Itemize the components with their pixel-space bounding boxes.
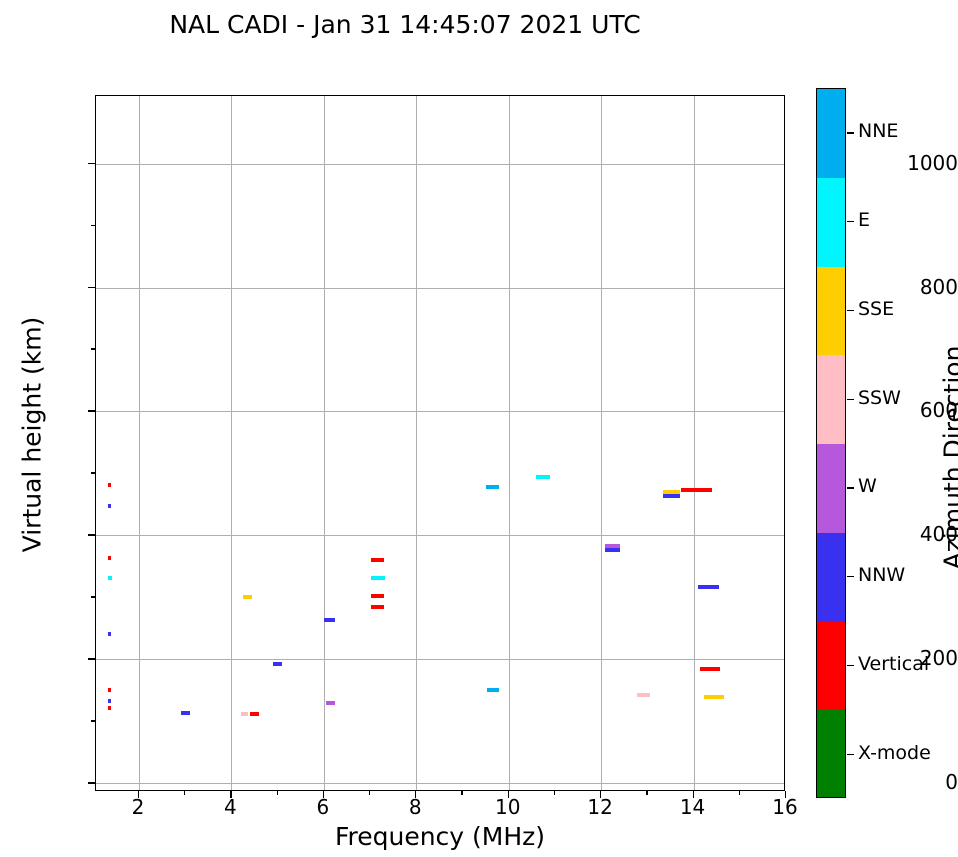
y-tick-mark — [88, 410, 95, 411]
colorbar-label-x-mode: X-mode — [858, 744, 931, 763]
data-point — [108, 483, 111, 487]
gridline-horizontal — [96, 659, 784, 660]
colorbar-tick — [847, 221, 854, 222]
ionogram-figure: NAL CADI - Jan 31 14:45:07 2021 UTC 0200… — [0, 0, 958, 857]
colorbar-tick — [847, 310, 854, 311]
x-tick-label: 6 — [293, 795, 353, 819]
colorbar-label-e: E — [858, 211, 870, 230]
colorbar-label-nne: NNE — [858, 122, 898, 141]
y-tick-minor — [91, 596, 95, 597]
gridline-vertical — [601, 96, 602, 790]
gridline-vertical — [231, 96, 232, 790]
y-tick-mark — [88, 287, 95, 288]
x-tick-label: 2 — [108, 795, 168, 819]
y-tick-label: 0 — [880, 772, 958, 792]
colorbar-tick — [847, 754, 854, 755]
colorbar-tick — [847, 132, 854, 133]
colorbar-tick — [847, 399, 854, 400]
x-tick-label: 12 — [570, 795, 630, 819]
colorbar-segment-x-mode — [817, 710, 845, 798]
gridline-horizontal — [96, 535, 784, 536]
y-tick-mark — [88, 163, 95, 164]
gridline-vertical — [416, 96, 417, 790]
data-point — [108, 699, 111, 703]
x-tick-label: 16 — [755, 795, 815, 819]
data-point — [698, 585, 719, 589]
colorbar-segment-nne — [817, 89, 845, 178]
y-tick-label: 1000 — [880, 153, 958, 173]
x-tick-label: 4 — [200, 795, 260, 819]
gridline-horizontal — [96, 411, 784, 412]
colorbar-title: Azimuth Direction — [939, 208, 958, 708]
page-title: NAL CADI - Jan 31 14:45:07 2021 UTC — [0, 10, 810, 39]
x-tick-minor — [646, 791, 647, 795]
y-tick-mark — [88, 658, 95, 659]
colorbar — [816, 88, 846, 798]
colorbar-label-nnw: NNW — [858, 566, 905, 585]
colorbar-segment-e — [817, 178, 845, 267]
x-tick-minor — [461, 791, 462, 795]
x-tick-label: 10 — [478, 795, 538, 819]
colorbar-label-vertical: Vertical — [858, 655, 929, 674]
plot-area — [95, 95, 785, 791]
y-axis-label: Virtual height (km) — [18, 185, 47, 685]
data-point — [273, 662, 282, 666]
data-point — [181, 711, 190, 715]
data-point — [371, 605, 384, 609]
data-point — [486, 485, 500, 489]
data-point — [536, 475, 550, 479]
colorbar-tick — [847, 487, 854, 488]
data-point — [371, 576, 385, 580]
data-point — [108, 706, 111, 710]
data-point — [108, 576, 112, 580]
x-tick-minor — [184, 791, 185, 795]
colorbar-segment-w — [817, 444, 845, 533]
data-point — [700, 667, 720, 671]
y-tick-minor — [91, 225, 95, 226]
data-point — [663, 494, 680, 498]
gridline-horizontal — [96, 783, 784, 784]
y-tick-mark — [88, 534, 95, 535]
data-point — [243, 595, 252, 599]
gridline-vertical — [694, 96, 695, 790]
data-point — [241, 712, 249, 716]
data-point — [324, 618, 336, 622]
x-tick-minor — [554, 791, 555, 795]
data-point — [704, 695, 724, 699]
x-axis-label: Frequency (MHz) — [95, 822, 785, 851]
data-point — [371, 558, 384, 562]
data-point — [108, 688, 111, 692]
data-point — [637, 693, 649, 697]
colorbar-tick — [847, 665, 854, 666]
gridline-vertical — [324, 96, 325, 790]
y-tick-minor — [91, 348, 95, 349]
data-point — [250, 712, 259, 716]
y-tick-minor — [91, 720, 95, 721]
x-tick-minor — [369, 791, 370, 795]
colorbar-tick — [847, 576, 854, 577]
x-tick-minor — [277, 791, 278, 795]
colorbar-segment-nnw — [817, 533, 845, 622]
x-tick-minor — [739, 791, 740, 795]
x-tick-label: 8 — [385, 795, 445, 819]
colorbar-label-w: W — [858, 477, 877, 496]
data-point — [108, 504, 111, 508]
colorbar-label-sse: SSE — [858, 300, 894, 319]
gridline-vertical — [509, 96, 510, 790]
x-tick-label: 14 — [663, 795, 723, 819]
gridline-horizontal — [96, 288, 784, 289]
data-point — [371, 594, 384, 598]
gridline-horizontal — [96, 164, 784, 165]
data-point — [681, 488, 712, 492]
data-point — [326, 701, 335, 705]
data-point — [108, 556, 111, 560]
gridline-vertical — [139, 96, 140, 790]
colorbar-segment-vertical — [817, 622, 845, 711]
colorbar-segment-ssw — [817, 355, 845, 444]
data-point — [108, 632, 111, 636]
colorbar-segment-sse — [817, 267, 845, 356]
y-tick-mark — [88, 782, 95, 783]
data-point — [487, 688, 500, 692]
colorbar-label-ssw: SSW — [858, 389, 901, 408]
y-tick-minor — [91, 472, 95, 473]
data-point — [605, 548, 620, 552]
